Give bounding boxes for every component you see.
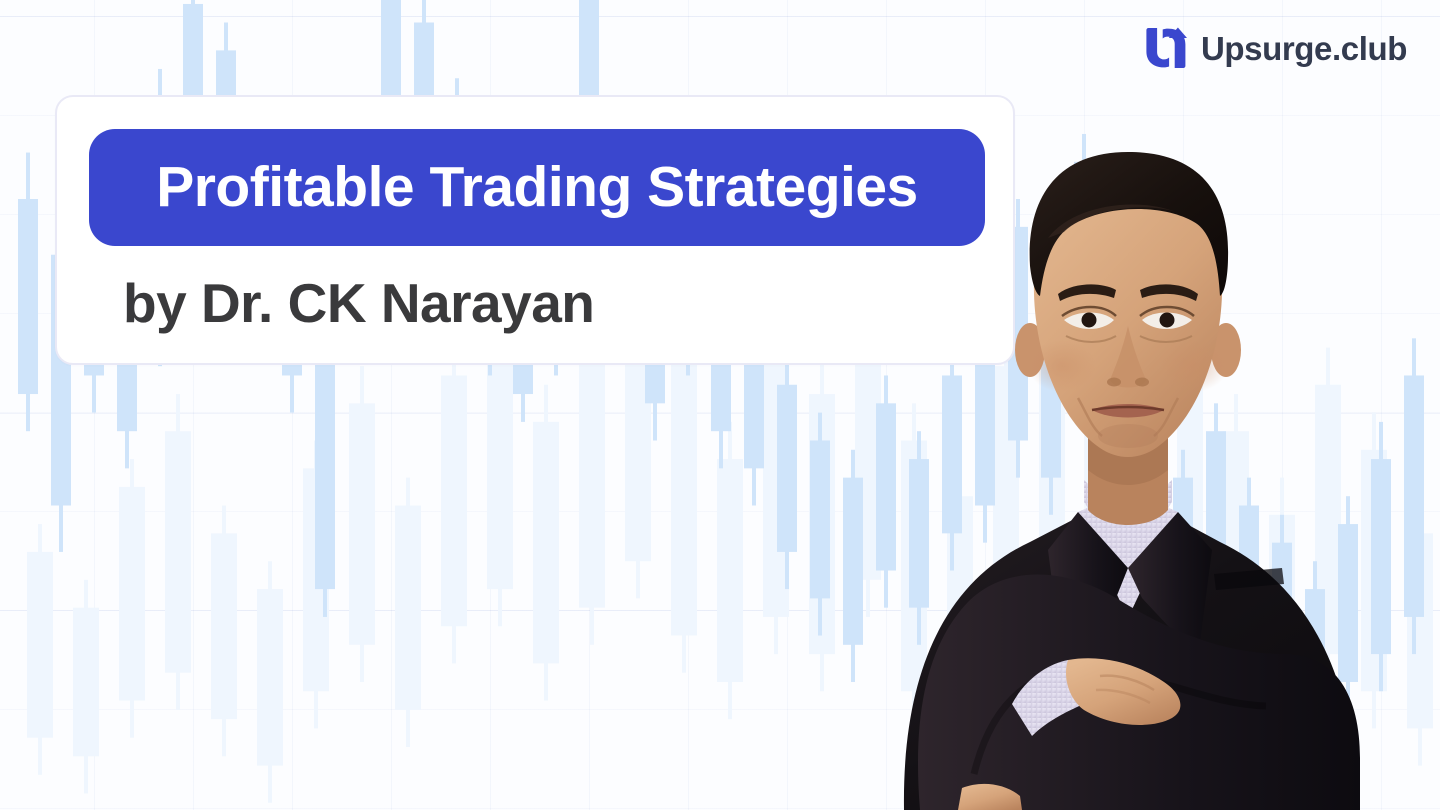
candle-wick xyxy=(950,348,954,571)
eye-right xyxy=(1142,313,1192,330)
neck xyxy=(1088,434,1168,525)
course-title: Profitable Trading Strategies xyxy=(156,159,918,216)
candle-wick xyxy=(38,524,42,775)
suit-lapel-right xyxy=(1128,512,1212,658)
candle-body xyxy=(763,329,789,617)
candle-wick xyxy=(1004,329,1008,682)
candle-body xyxy=(909,459,929,608)
candle-body xyxy=(18,199,38,394)
candle-wick xyxy=(1326,348,1330,692)
hair xyxy=(1030,152,1228,296)
hand xyxy=(1066,658,1180,725)
ear-left xyxy=(1015,323,1045,377)
candle-body xyxy=(1039,301,1065,598)
candle-body xyxy=(1315,385,1341,654)
title-card: Profitable Trading Strategies by Dr. CK … xyxy=(55,95,1015,365)
undereye-left xyxy=(1066,336,1116,342)
candle-wick xyxy=(1050,264,1054,636)
candle-wick xyxy=(1280,515,1284,719)
candle-wick xyxy=(728,422,732,719)
candle-body xyxy=(1085,413,1111,664)
candle-body xyxy=(73,608,99,757)
candle-wick xyxy=(1247,478,1251,692)
candle-wick xyxy=(958,459,962,747)
candle-body xyxy=(119,487,145,701)
candle-wick xyxy=(820,357,824,691)
undereye-right xyxy=(1140,336,1192,342)
candle-wick xyxy=(1313,561,1317,756)
candle-body xyxy=(1338,524,1358,682)
candle-body xyxy=(810,440,830,598)
suit-torso xyxy=(904,514,1358,810)
candle-wick xyxy=(917,431,921,645)
candle-wick xyxy=(851,450,855,682)
promo-banner: Profitable Trading Strategies by Dr. CK … xyxy=(0,0,1440,810)
eyebrow-right xyxy=(1140,284,1198,301)
grid-line xyxy=(0,16,1440,17)
candle-wick xyxy=(1280,478,1284,757)
candle-wick xyxy=(1082,134,1086,431)
candle-wick xyxy=(1379,422,1383,691)
hair-highlight xyxy=(1048,204,1176,238)
candle-wick xyxy=(1181,450,1185,664)
chin-shadow xyxy=(1098,424,1158,448)
nose xyxy=(1110,326,1146,388)
candle-body xyxy=(579,348,605,608)
eye-left xyxy=(1064,313,1114,330)
candle-wick xyxy=(785,357,789,589)
candle-wick xyxy=(84,580,88,794)
nostril-right xyxy=(1135,378,1149,387)
candle-body xyxy=(27,552,53,738)
smile-line-right xyxy=(1154,398,1178,436)
candle-wick xyxy=(268,561,272,802)
candle-body xyxy=(1269,515,1295,719)
candle-body xyxy=(876,403,896,570)
candle-body xyxy=(1107,329,1127,524)
candle-body xyxy=(1177,348,1203,627)
shirt-collar xyxy=(1084,480,1172,568)
candle-body xyxy=(1206,431,1226,598)
hand-secondary xyxy=(958,784,1022,810)
cheek-left xyxy=(1028,340,1096,392)
mouth xyxy=(1092,404,1164,418)
candle-body xyxy=(717,459,743,682)
candle-body xyxy=(1173,478,1193,627)
candle-wick xyxy=(544,385,548,701)
candle-wick xyxy=(818,413,822,636)
candle-body xyxy=(303,468,329,691)
candle-wick xyxy=(1418,496,1422,765)
brand-name: Upsurge.club xyxy=(1201,32,1407,65)
candle-body xyxy=(211,533,237,719)
candle-body xyxy=(1407,533,1433,728)
candle-wick xyxy=(130,459,134,738)
candle-body xyxy=(1074,162,1094,394)
suit-lapel-left xyxy=(1048,512,1128,658)
candle-body xyxy=(1404,375,1424,616)
candle-body xyxy=(1223,431,1249,672)
candle-body xyxy=(901,440,927,691)
candle-wick xyxy=(1346,496,1350,719)
shirt-cuff xyxy=(1012,660,1088,736)
pupil-right xyxy=(1160,313,1175,328)
arm-fold-shadow xyxy=(974,669,1266,774)
ear-right xyxy=(1211,323,1241,377)
candle-body xyxy=(1239,505,1259,654)
suit-pocket xyxy=(1214,568,1284,590)
eyelid-left xyxy=(1062,307,1116,316)
candle-wick xyxy=(884,375,888,607)
candle-wick xyxy=(222,505,226,756)
candle-body xyxy=(993,366,1019,645)
candle-wick xyxy=(1096,375,1100,700)
candle-wick xyxy=(1234,394,1238,710)
candle-body xyxy=(257,589,283,765)
course-title-pill: Profitable Trading Strategies xyxy=(89,129,985,246)
upsurge-logo-icon xyxy=(1144,25,1188,71)
candle-wick xyxy=(1214,403,1218,635)
candle-wick xyxy=(1142,440,1146,737)
neck-shadow xyxy=(1088,434,1168,485)
candle-wick xyxy=(1016,199,1020,478)
finger-lines xyxy=(1100,676,1154,690)
pupil-left xyxy=(1082,313,1097,328)
grid-line xyxy=(0,413,1440,414)
shirt-front xyxy=(1078,504,1178,618)
smile-line-left xyxy=(1078,398,1102,436)
candle-body xyxy=(165,431,191,672)
candle-body xyxy=(1361,450,1387,691)
candle-body xyxy=(1131,478,1157,701)
candle-wick xyxy=(1372,413,1376,729)
candle-body xyxy=(1140,403,1160,570)
candle-wick xyxy=(26,153,30,432)
brand-lockup[interactable]: Upsurge.club xyxy=(1144,25,1407,71)
eyebrow-left xyxy=(1058,284,1116,301)
candle-wick xyxy=(1049,245,1053,514)
candle-body xyxy=(1272,543,1292,682)
candle-body xyxy=(843,478,863,645)
candle-body xyxy=(671,357,697,636)
candle-wick xyxy=(912,403,916,728)
lip-line xyxy=(1092,407,1164,410)
candle-body xyxy=(1305,589,1325,719)
candle-wick xyxy=(1115,301,1119,561)
candle-body xyxy=(947,496,973,710)
candle-wick xyxy=(176,394,180,710)
candle-body xyxy=(942,375,962,533)
candle-body xyxy=(809,394,835,654)
candle-wick xyxy=(314,440,318,728)
grid-line xyxy=(0,610,1440,611)
candle-body xyxy=(395,505,421,709)
candle-body xyxy=(533,422,559,663)
candle-wick xyxy=(682,320,686,673)
candle-wick xyxy=(1148,375,1152,607)
candle-body xyxy=(349,403,375,644)
candle-body xyxy=(777,385,797,552)
cheek-right xyxy=(1160,340,1228,392)
presenter-name: by Dr. CK Narayan xyxy=(123,269,594,338)
finger-lines xyxy=(1096,690,1150,703)
candle-wick xyxy=(452,338,456,663)
candle-body xyxy=(1041,273,1061,477)
candle-wick xyxy=(406,478,410,747)
candle-body xyxy=(1371,459,1391,654)
eyelid-right xyxy=(1140,307,1194,316)
nostril-left xyxy=(1107,378,1121,387)
candle-wick xyxy=(1412,338,1416,654)
